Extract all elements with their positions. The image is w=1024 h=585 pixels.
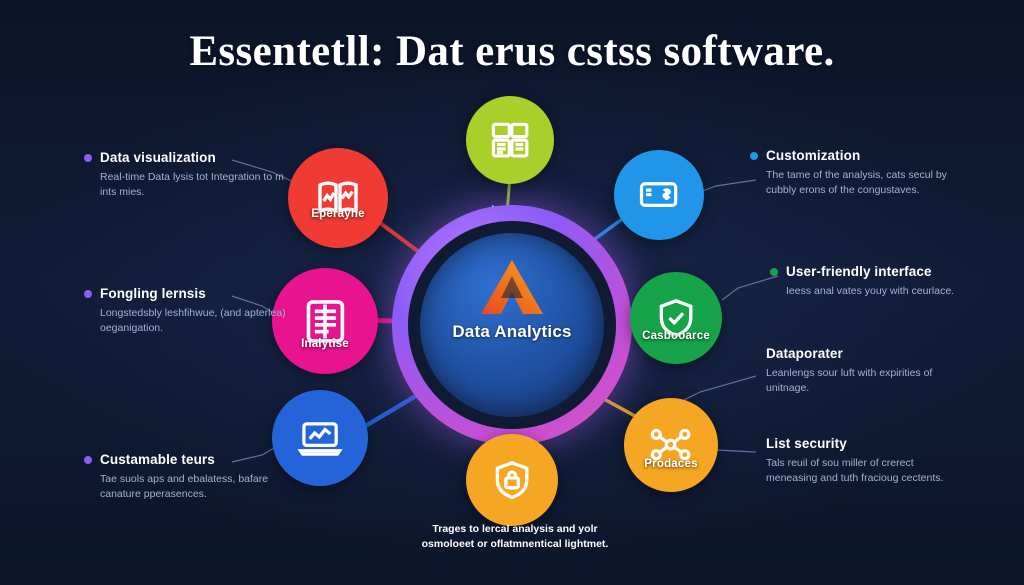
node-top[interactable] (466, 96, 554, 184)
annotation-bullet-icon (84, 154, 92, 162)
annotation-body: Leanlengs sour luft with expirities of u… (766, 366, 952, 396)
node-upper-left[interactable] (288, 148, 388, 248)
open-book-chart-icon (314, 174, 362, 222)
table-grid-icon (489, 119, 531, 161)
annotation-bullet-icon (750, 152, 758, 160)
annotation-title: Custamable teurs (100, 452, 286, 467)
annotation-bullet-icon (84, 456, 92, 464)
lock-shield-icon (490, 458, 534, 502)
annotation-body: The tame of the analysis, cats secul by … (766, 168, 952, 198)
node-lower-right[interactable] (624, 398, 718, 492)
annotation-body: Tals reuil of sou miller of crerect mene… (766, 456, 952, 486)
annotation-data-visualization[interactable]: Data visualization Real-time Data lysis … (100, 150, 286, 200)
triangle-a-logo-icon (475, 258, 549, 316)
document-list-icon (300, 296, 351, 347)
money-bill-icon (637, 173, 680, 216)
annotation-body: Tae suols aps and ebalatess, bafare cana… (100, 472, 286, 502)
annotation-title: Dataporater (766, 346, 952, 361)
hub-label: Data Analytics (420, 322, 604, 342)
bottom-node-caption: Trages to lercal analysis and yolr osmol… (420, 522, 610, 552)
laptop-chart-icon (297, 415, 343, 461)
annotation-user-friendly-interface[interactable]: User-friendly interface Ieess anal vates… (786, 264, 958, 299)
annotation-title: List security (766, 436, 952, 451)
node-lower-left[interactable] (272, 390, 368, 486)
network-nodes-icon (648, 422, 693, 467)
annotation-fongling-lernsis[interactable]: Fongling lernsis Longstedsbly leshfihwue… (100, 286, 286, 336)
annotation-body: Longstedsbly leshfihwue, (and apterlea) … (100, 306, 286, 336)
shield-check-icon (654, 296, 698, 340)
annotation-title: Fongling lernsis (100, 286, 286, 301)
node-right[interactable] (630, 272, 722, 364)
annotation-dataporater[interactable]: Dataporater Leanlengs sour luft with exp… (766, 346, 952, 396)
annotation-bullet-icon (770, 268, 778, 276)
annotation-bullet-icon (84, 290, 92, 298)
annotation-title: Data visualization (100, 150, 286, 165)
bottom-node-caption-text: Trages to lercal analysis and yolr osmol… (420, 522, 610, 552)
node-bottom[interactable] (466, 434, 558, 526)
annotation-body: Ieess anal vates youy with ceurlace. (786, 284, 958, 299)
annotation-title: Customization (766, 148, 952, 163)
node-left[interactable] (272, 268, 378, 374)
annotation-custamable-teurs[interactable]: Custamable teurs Tae suols aps and ebala… (100, 452, 286, 502)
diagram-canvas: Essentetll: Dat erus cstss software. (0, 0, 1024, 585)
annotation-body: Real-time Data lysis tot Integration to … (100, 170, 286, 200)
annotation-customization[interactable]: Customization The tame of the analysis, … (766, 148, 952, 198)
annotation-title: User-friendly interface (786, 264, 958, 279)
annotation-list-security[interactable]: List security Tals reuil of sou miller o… (766, 436, 952, 486)
node-upper-right[interactable] (614, 150, 704, 240)
